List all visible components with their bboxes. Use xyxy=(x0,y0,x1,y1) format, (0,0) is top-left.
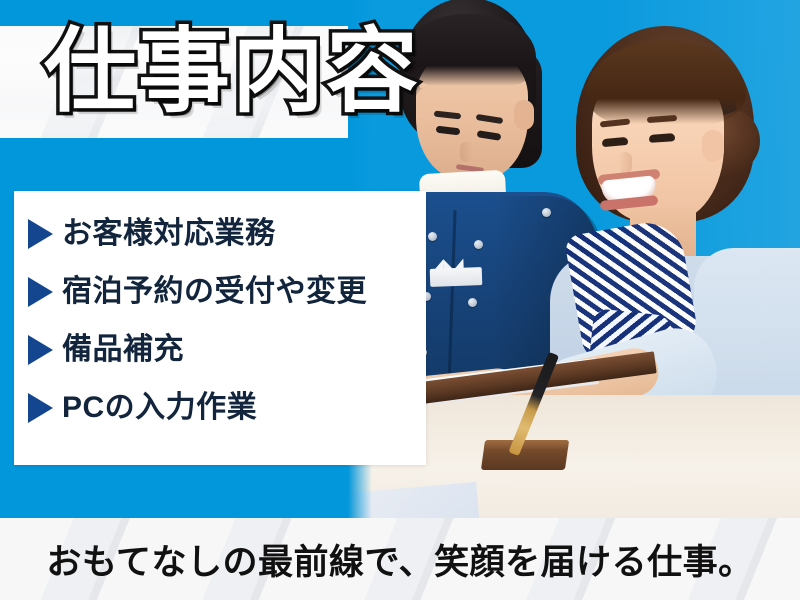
list-item: 備品補充 xyxy=(28,321,416,379)
list-item: お客様対応業務 xyxy=(28,205,416,263)
right-triangle-icon xyxy=(28,335,53,365)
list-item: 宿泊予約の受付や変更 xyxy=(28,263,416,321)
task-list-card: お客様対応業務 宿泊予約の受付や変更 備品補充 PCの入力作業 xyxy=(14,191,426,465)
job-description-poster: 仕事内容 お客様対応業務 宿泊予約の受付や変更 備品補充 PCの入力作業 おもて… xyxy=(0,0,800,600)
footer-caption: おもてなしの最前線で、笑顔を届ける仕事。 xyxy=(0,518,800,600)
male-jacket-button xyxy=(428,232,437,241)
task-label: お客様対応業務 xyxy=(62,217,276,251)
right-triangle-icon xyxy=(28,393,53,423)
list-item: PCの入力作業 xyxy=(28,379,416,437)
male-jacket-button xyxy=(468,298,477,307)
male-fringe xyxy=(404,14,536,86)
task-label: 備品補充 xyxy=(62,333,184,367)
pen-stand xyxy=(481,440,569,470)
female-nose xyxy=(618,152,632,174)
male-name-badge xyxy=(430,267,483,287)
right-triangle-icon xyxy=(28,219,53,249)
male-ear xyxy=(514,100,534,130)
page-title: 仕事内容 xyxy=(44,18,420,126)
task-label: 宿泊予約の受付や変更 xyxy=(62,275,367,309)
task-list: お客様対応業務 宿泊予約の受付や変更 備品補充 PCの入力作業 xyxy=(28,205,416,437)
right-triangle-icon xyxy=(28,277,53,307)
female-ear xyxy=(702,130,724,162)
task-label: PCの入力作業 xyxy=(62,391,257,425)
male-nose xyxy=(460,142,473,162)
male-jacket-button xyxy=(474,240,483,249)
